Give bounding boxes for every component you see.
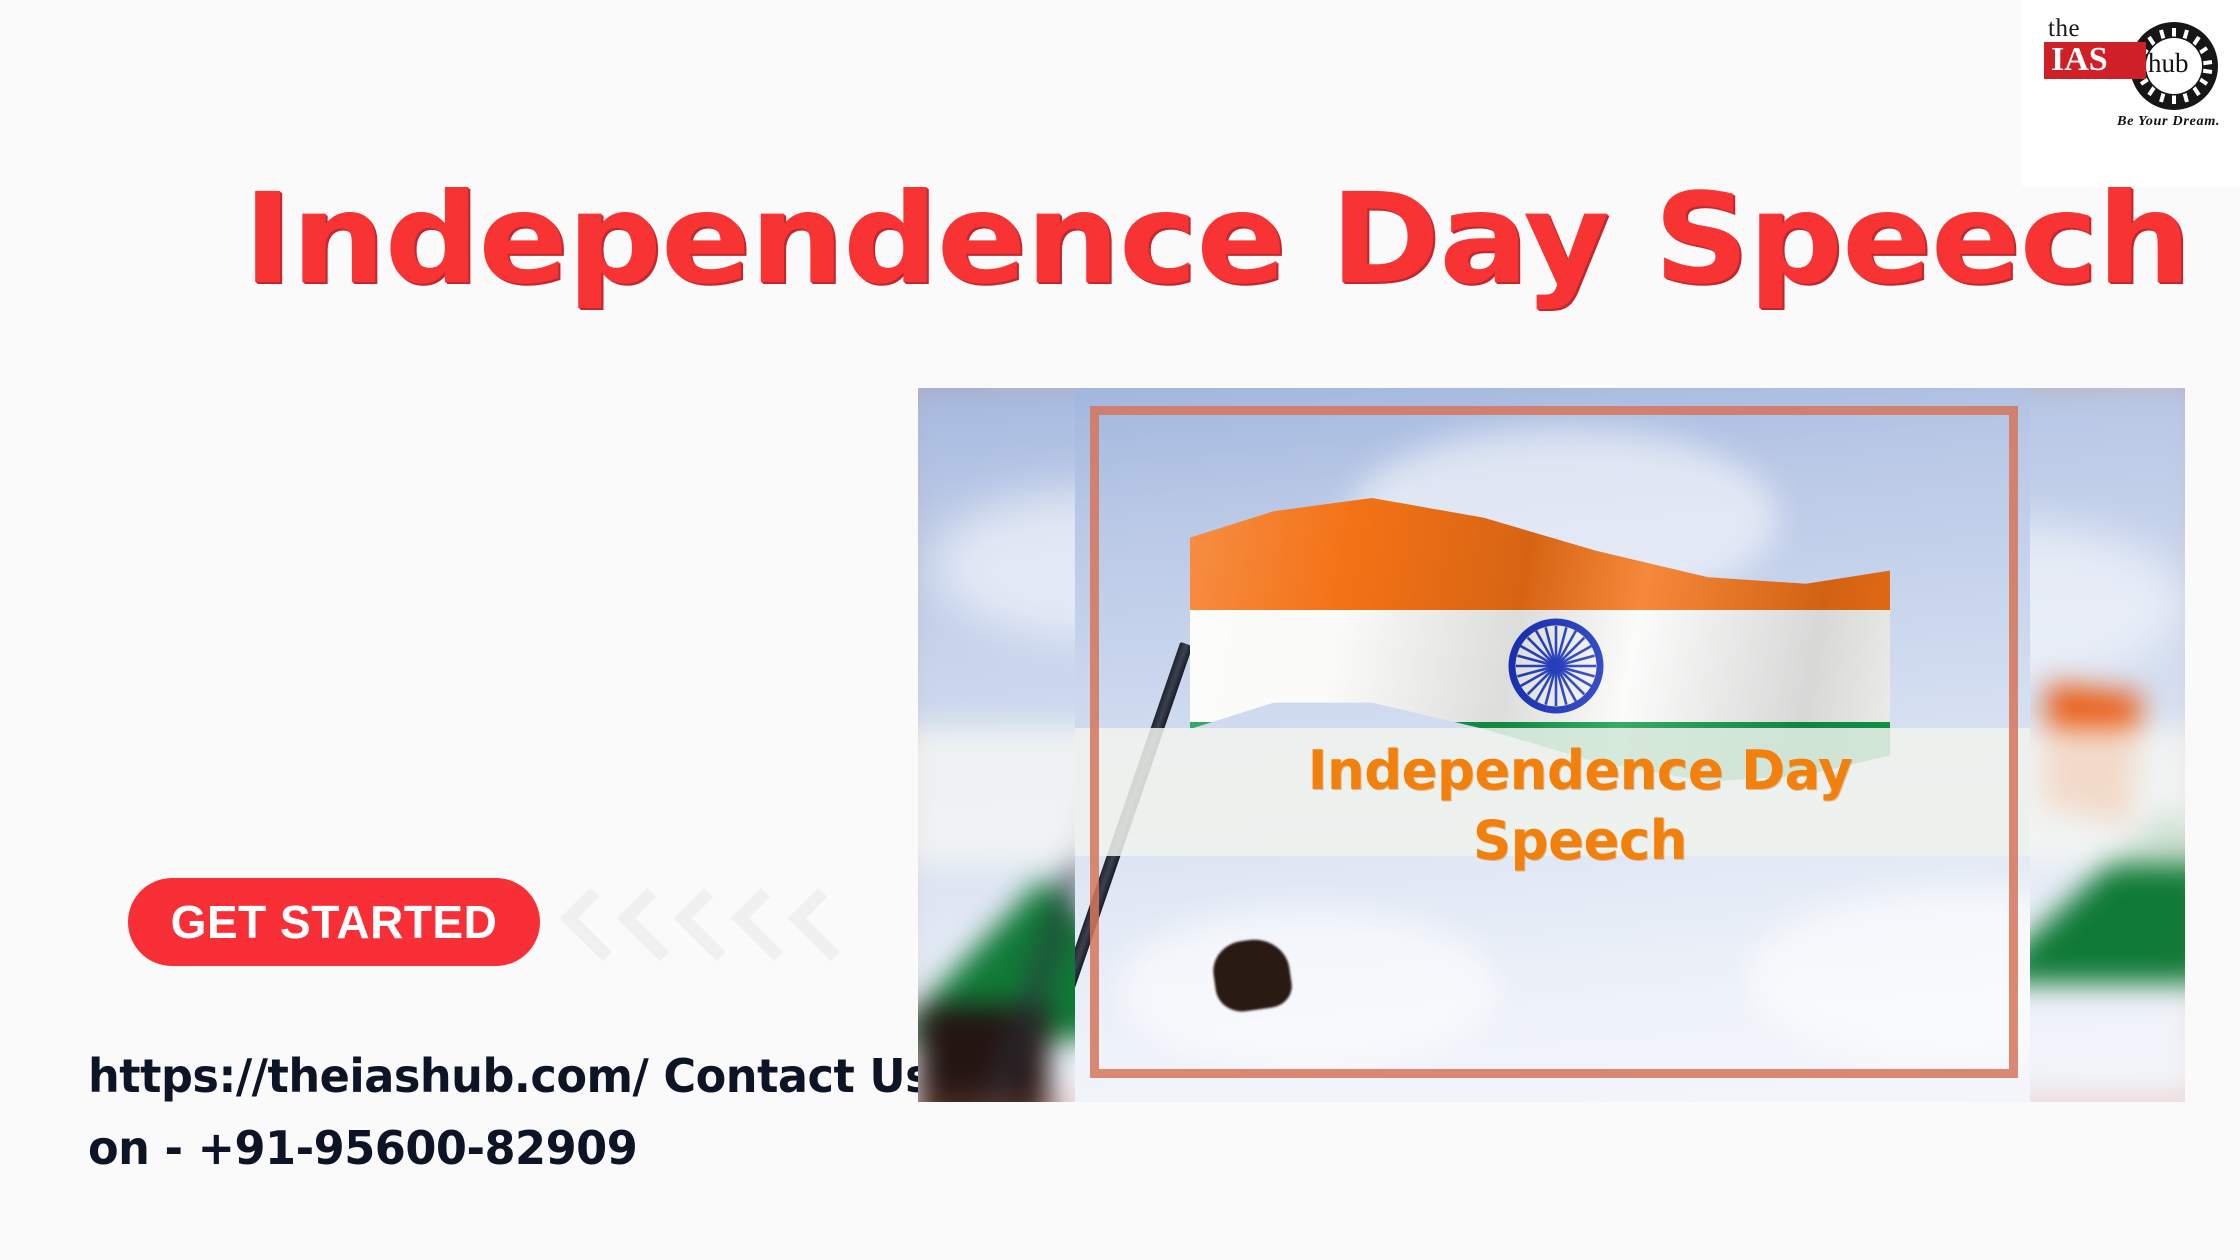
indian-flag-photo: Independence Day Speech (918, 388, 2185, 1102)
contact-info: https://theiashub.com/ Contact Us on - +… (88, 1040, 883, 1184)
chevron-decoration (575, 895, 855, 953)
logo-word-the: the (2048, 16, 2080, 41)
contact-line-website[interactable]: https://theiashub.com/ Contact Us (88, 1040, 883, 1112)
logo-tagline: Be Your Dream. (2117, 114, 2220, 130)
get-started-button[interactable]: GET STARTED (128, 878, 540, 966)
logo-word-hub: hub (2148, 50, 2189, 77)
brand-logo[interactable]: the IAS hub Be Your Dream. (2022, 0, 2240, 186)
chevron-left-icon (788, 887, 862, 961)
logo-artwork: the IAS hub Be Your Dream. (2030, 10, 2232, 160)
logo-word-ias: IAS (2051, 43, 2108, 77)
photo-frame-inner (1090, 406, 2018, 1078)
contact-line-phone[interactable]: on - +91-95600-82909 (88, 1112, 883, 1184)
poster-canvas: the IAS hub Be Your Dream. Independence … (0, 0, 2240, 1260)
page-title: Independence Day Speech (243, 170, 1981, 310)
